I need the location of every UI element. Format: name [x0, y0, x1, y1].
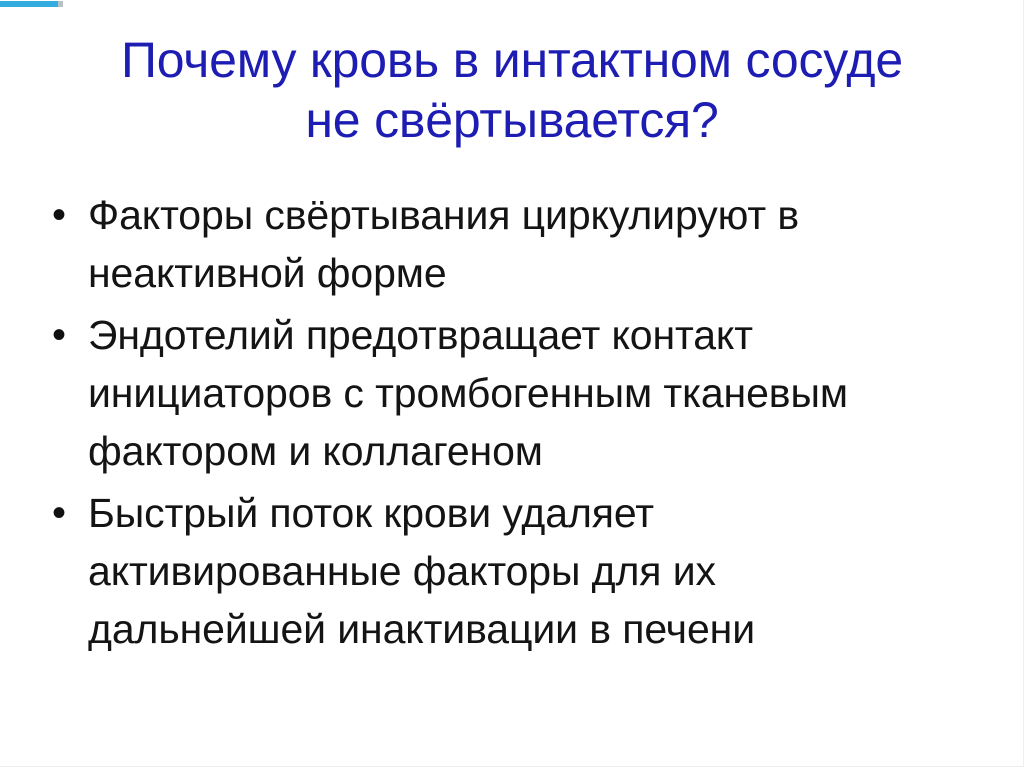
presentation-slide: Почему кровь в интактном сосуде не свёрт…	[0, 0, 1024, 767]
list-item: • Быстрый поток крови удаляет активирова…	[40, 484, 990, 658]
bullet-line: Факторы свёртывания циркулируют в	[88, 186, 990, 244]
bullet-list: • Факторы свёртывания циркулируют в неак…	[40, 186, 990, 662]
bullet-line: Эндотелий предотвращает контакт	[88, 306, 990, 364]
accent-bar-tail	[58, 1, 63, 7]
bullet-text: Эндотелий предотвращает контакт инициато…	[88, 306, 990, 480]
bullet-line: инициаторов с тромбогенным тканевым	[88, 364, 990, 422]
bullet-line: активированные факторы для их	[88, 542, 990, 600]
bullet-line: Быстрый поток крови удаляет	[88, 484, 990, 542]
bullet-point-icon: •	[40, 484, 88, 542]
bullet-line: неактивной форме	[88, 244, 990, 302]
bullet-text: Факторы свёртывания циркулируют в неакти…	[88, 186, 990, 302]
accent-bar	[0, 1, 58, 7]
slide-title: Почему кровь в интактном сосуде не свёрт…	[0, 30, 1024, 150]
bullet-point-icon: •	[40, 186, 88, 244]
bullet-line: фактором и коллагеном	[88, 422, 990, 480]
list-item: • Эндотелий предотвращает контакт инициа…	[40, 306, 990, 480]
bullet-text: Быстрый поток крови удаляет активированн…	[88, 484, 990, 658]
bullet-point-icon: •	[40, 306, 88, 364]
bullet-line: дальнейшей инактивации в печени	[88, 600, 990, 658]
slide-title-line-2: не свёртывается?	[0, 90, 1024, 150]
slide-title-line-1: Почему кровь в интактном сосуде	[0, 30, 1024, 90]
list-item: • Факторы свёртывания циркулируют в неак…	[40, 186, 990, 302]
